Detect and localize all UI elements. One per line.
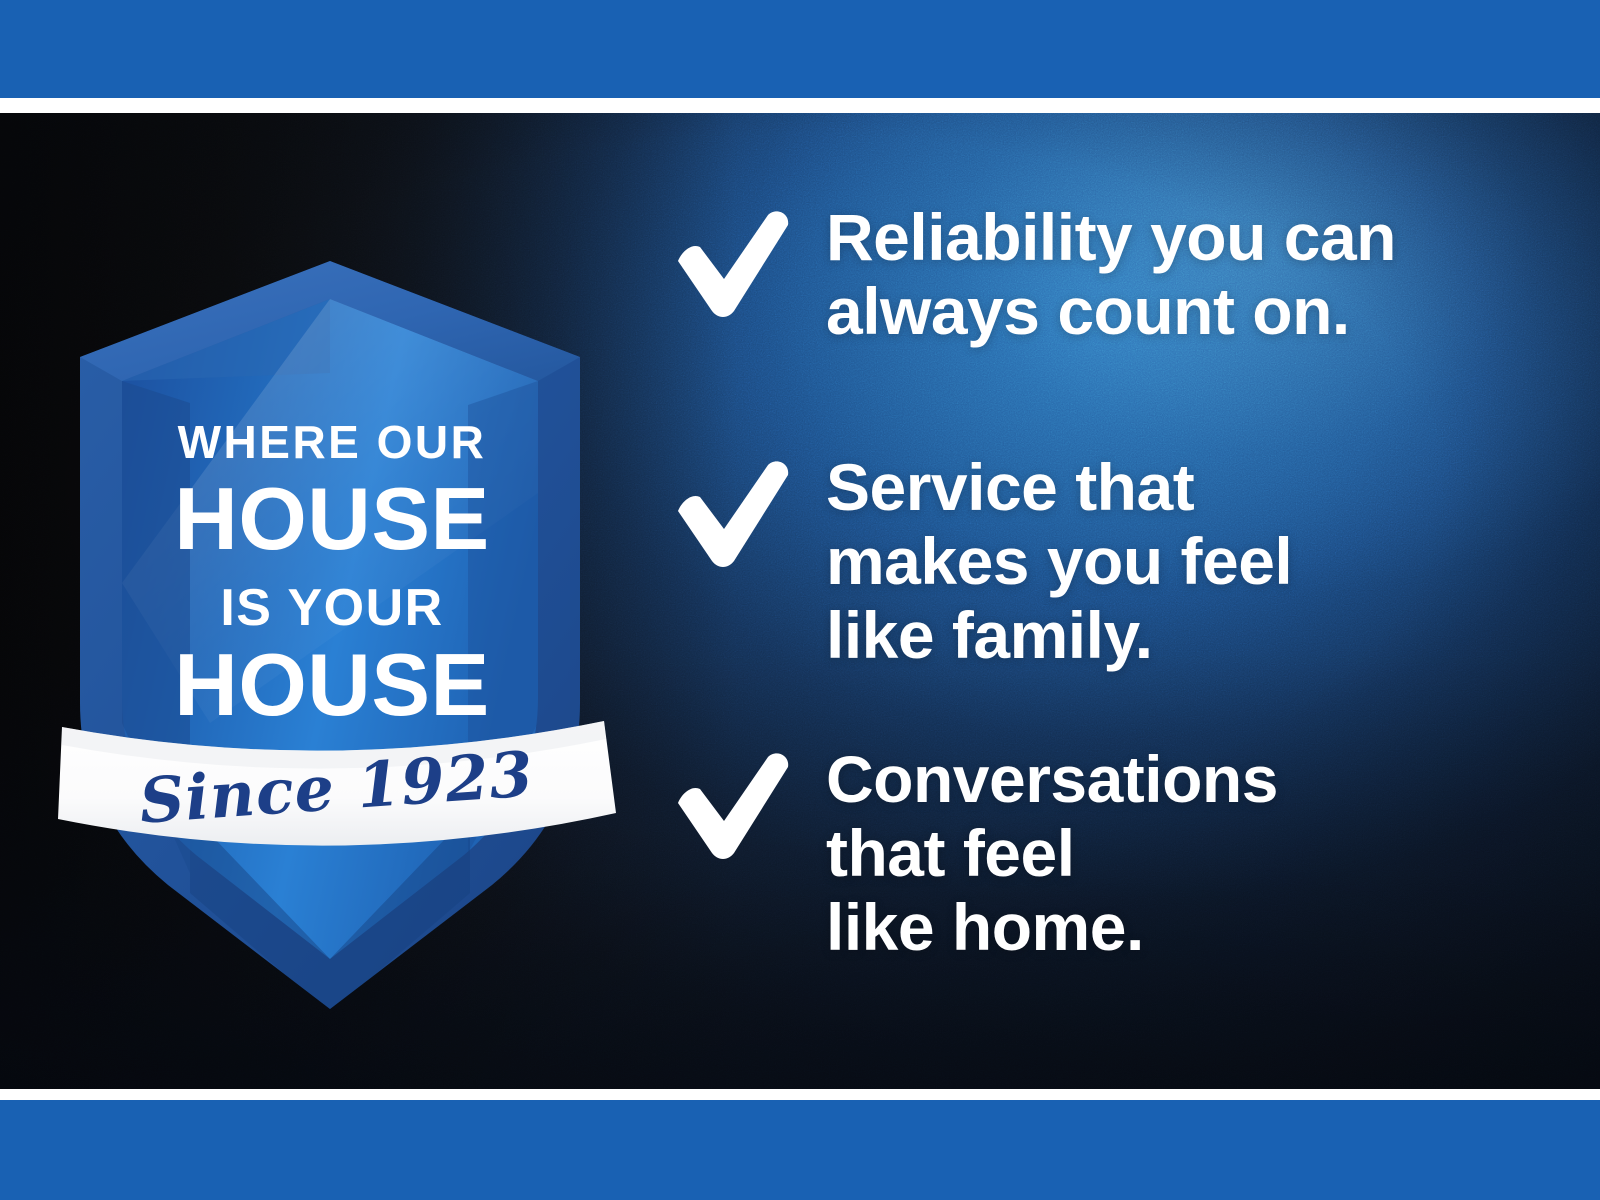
shield-line-3: IS YOUR (220, 579, 443, 637)
main-stage: WHERE OUR HOUSE IS YOUR HOUSE Since 1923 (0, 113, 1600, 1089)
list-item-text: Service that makes you feel like family. (826, 451, 1292, 673)
list-item: Conversations that feel like home. (672, 743, 1278, 965)
shield-line-2: HOUSE (174, 469, 489, 568)
checkmark-icon (672, 207, 796, 319)
checkmark-icon (672, 749, 796, 861)
list-item: Service that makes you feel like family. (672, 451, 1292, 673)
top-divider-stripe (0, 98, 1600, 113)
promo-graphic: WHERE OUR HOUSE IS YOUR HOUSE Since 1923 (0, 0, 1600, 1200)
list-item-text: Conversations that feel like home. (826, 743, 1278, 965)
list-item-text: Reliability you can always count on. (826, 201, 1396, 349)
company-logo: WHERE OUR HOUSE IS YOUR HOUSE Since 1923 (60, 253, 620, 933)
shield-line-1: WHERE OUR (178, 416, 487, 468)
top-brand-bar (0, 0, 1600, 98)
benefits-list: Reliability you can always count on. Ser… (672, 113, 1572, 1089)
bottom-divider-stripe (0, 1089, 1600, 1100)
bottom-brand-bar (0, 1100, 1600, 1200)
list-item: Reliability you can always count on. (672, 201, 1396, 349)
shield-line-4: HOUSE (174, 635, 489, 734)
checkmark-icon (672, 457, 796, 569)
